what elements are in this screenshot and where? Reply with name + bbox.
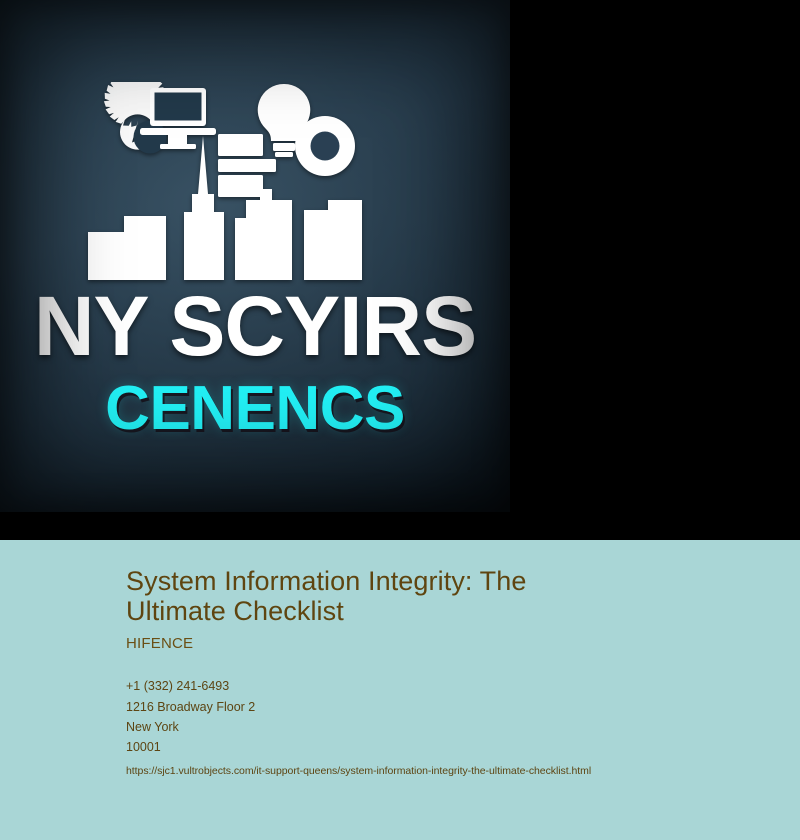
contact-block: +1 (332) 241-6493 1216 Broadway Floor 2 … (126, 676, 800, 757)
contact-phone: +1 (332) 241-6493 (126, 676, 800, 696)
hero-banner-image: NY SCYIRS CENENCS (0, 0, 510, 512)
hero-title-main: NY SCYIRS (34, 284, 476, 368)
contact-address-city: New York (126, 717, 800, 737)
hero-illustration (88, 82, 378, 280)
ring-icon (295, 116, 355, 176)
contact-address-zip: 10001 (126, 737, 800, 757)
document-url[interactable]: https://sjc1.vultrobjects.com/it-support… (126, 765, 800, 777)
server-stack-icon (218, 134, 276, 197)
info-panel: System Information Integrity: The Ultima… (0, 540, 800, 840)
hero-region: NY SCYIRS CENENCS (0, 0, 800, 540)
page-subtitle: HIFENCE (126, 635, 800, 652)
contact-address-line1: 1216 Broadway Floor 2 (126, 697, 800, 717)
hero-title-sub: CENENCS (105, 378, 405, 440)
page-title: System Information Integrity: The Ultima… (126, 566, 626, 626)
